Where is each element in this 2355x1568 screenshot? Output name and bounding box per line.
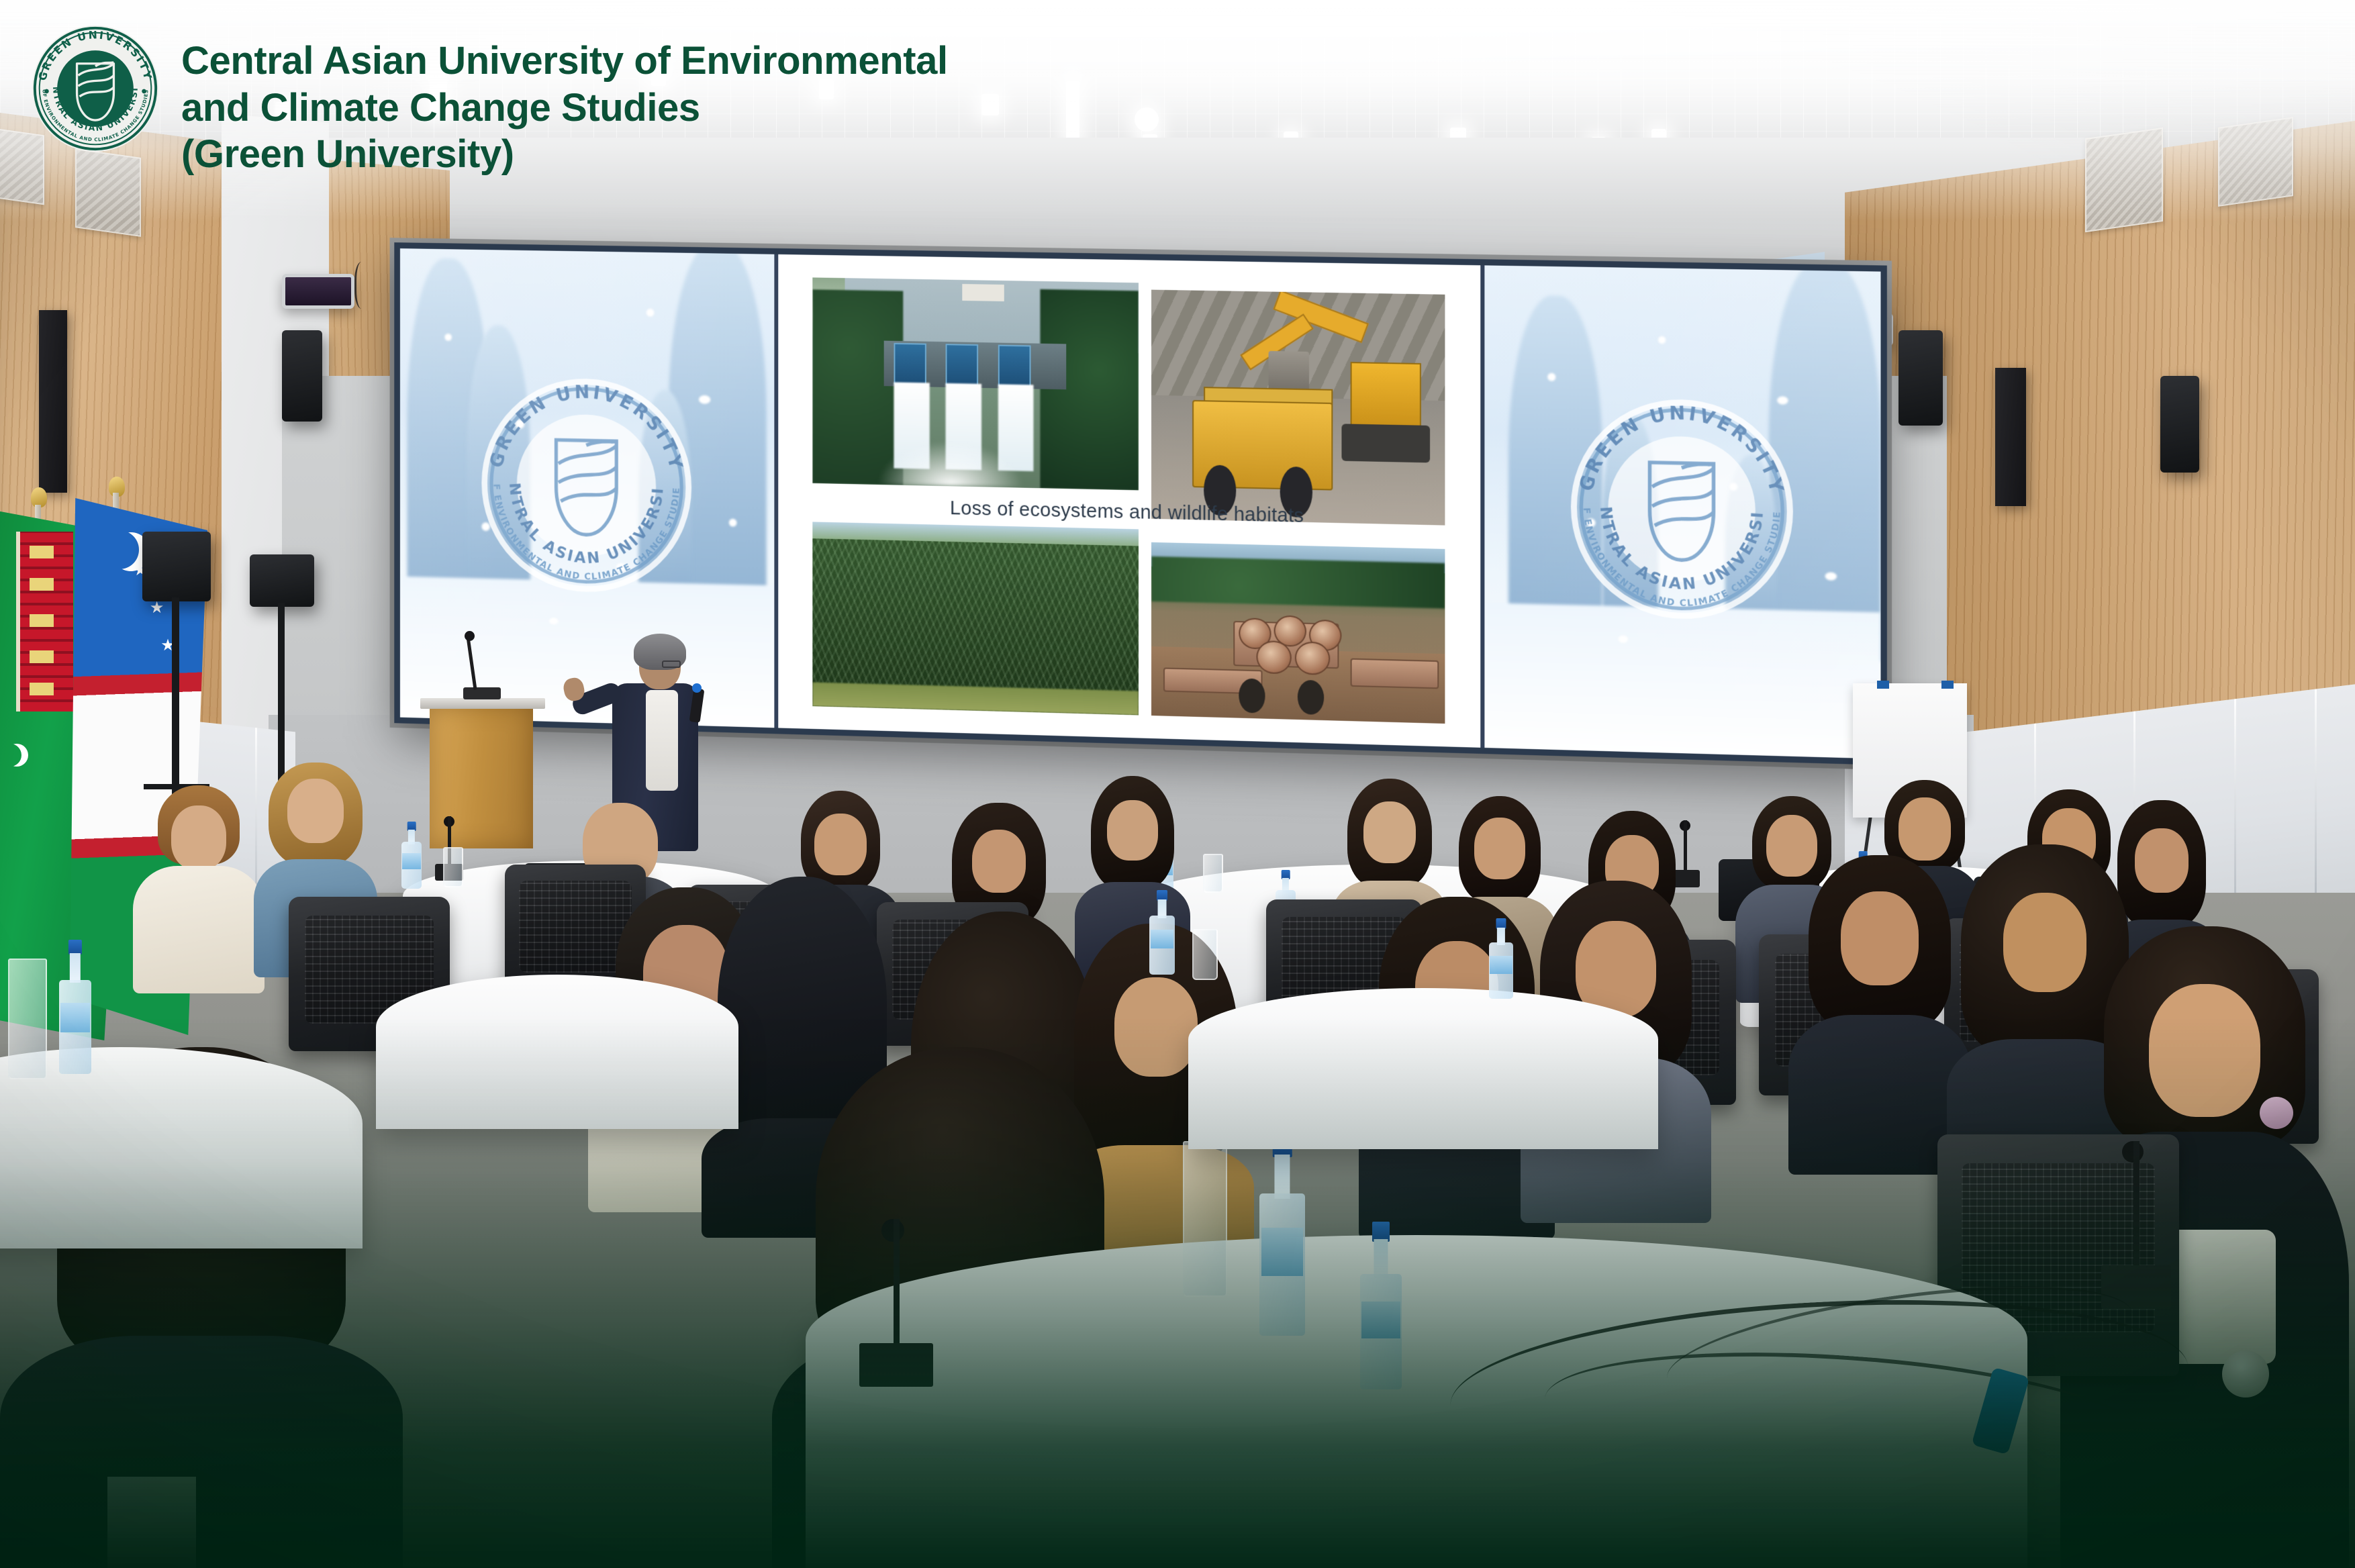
bottom-green-gradient (0, 1018, 2355, 1568)
brand-title-line1: Central Asian University of Environmenta… (181, 38, 948, 85)
flipchart-clip (1941, 681, 1954, 689)
podium-top (420, 698, 545, 709)
pa-speaker-right-2 (2160, 376, 2199, 473)
wall-monitor-left (282, 274, 354, 309)
water-bottle[interactable] (401, 822, 422, 889)
column-speaker-left (39, 310, 67, 493)
drinking-glass[interactable] (443, 847, 463, 887)
water-bottle[interactable] (1489, 918, 1513, 999)
podium-microphone-base (463, 687, 501, 699)
column-speaker-right (1995, 368, 2026, 506)
palm-oil-plantation-photo (812, 522, 1139, 716)
photo-canvas: GREEN UNIVERSITY CENTRAL ASIAN UNIVERSIT… (0, 0, 2355, 1568)
speaker-stand (172, 597, 179, 799)
drinking-glass[interactable] (1203, 854, 1223, 893)
cable (354, 262, 372, 309)
podium-microphone-head (465, 631, 475, 641)
pa-speaker-right-3 (282, 330, 322, 422)
logging-truck-photo (1151, 542, 1445, 724)
screen-side-panel-left: GREEN UNIVERSITY CENTRAL ASIAN UNIVERSIT… (400, 248, 774, 728)
pa-speaker-left (142, 532, 211, 601)
hydroelectric-dam-photo (812, 277, 1139, 490)
brand-title: Central Asian University of Environmenta… (181, 23, 948, 178)
open-pit-mining-photo (1151, 289, 1445, 525)
brand-title-line2: and Climate Change Studies (181, 85, 948, 132)
screen-watermark-logo-right: GREEN UNIVERSITY CENTRAL ASIAN UNIVERSIT… (1559, 386, 1805, 637)
brand-header: GREEN UNIVERSITY CENTRAL ASIAN UNIVERSIT… (0, 0, 2355, 181)
pa-speaker-left-2 (250, 554, 314, 607)
presentation-slide: Loss of ecosystems and wildlife habitats (774, 254, 1484, 748)
flipchart-clip (1877, 681, 1889, 689)
pa-speaker-right (1899, 330, 1943, 426)
screen-side-panel-right: GREEN UNIVERSITY CENTRAL ASIAN UNIVERSIT… (1485, 265, 1881, 758)
water-bottle[interactable] (1149, 890, 1175, 975)
screen-watermark-logo-left: GREEN UNIVERSITY CENTRAL ASIAN UNIVERSIT… (471, 365, 702, 609)
drinking-glass[interactable] (1192, 929, 1218, 980)
green-university-seal-logo: GREEN UNIVERSITY CENTRAL ASIAN UNIVERSIT… (30, 23, 161, 154)
brand-title-line3: (Green University) (181, 131, 948, 178)
